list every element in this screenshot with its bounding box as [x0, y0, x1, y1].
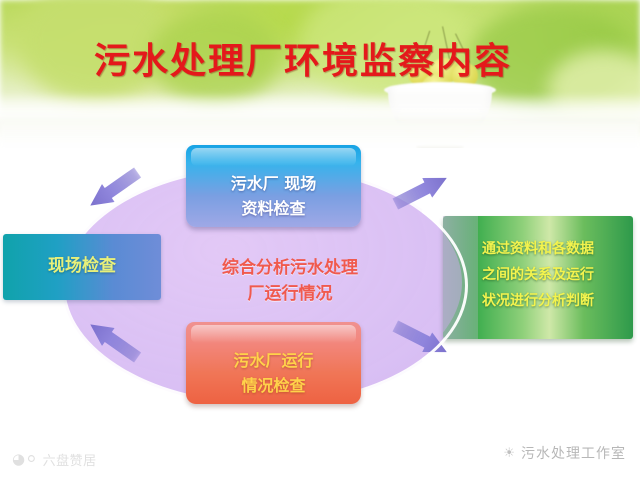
box-top-text: 污水厂 现场 资料检查 [186, 171, 361, 221]
box-site-document-check[interactable]: 污水厂 现场 资料检查 [186, 145, 361, 227]
center-line1: 综合分析污水处理 [170, 255, 410, 281]
box-on-site-inspection[interactable]: 现场检查 [3, 234, 161, 300]
watermark-left: ◕⚪ 六盘赞居 [12, 450, 97, 469]
box-left-label: 现场检查 [3, 254, 161, 278]
box-right-text: 通过资料和各数据 之间的关系及运行 状况进行分析判断 [443, 236, 633, 314]
box-right-line2: 之间的关系及运行 [443, 262, 633, 288]
box-bottom-line2: 情况检查 [186, 373, 361, 398]
presentation-slide: 污水处理厂环境监察内容 现场检查 通过资料和各数据 之间的关系及运行 状况进行分… [0, 0, 640, 478]
box-bottom-gloss [191, 325, 356, 343]
watermark-right: ☀ 污水处理工作室 [503, 443, 626, 463]
page-title: 污水处理厂环境监察内容 [94, 44, 512, 80]
diagram-container: 现场检查 通过资料和各数据 之间的关系及运行 状况进行分析判断 污水厂 现场 资… [0, 140, 640, 440]
box-analysis-judgement[interactable]: 通过资料和各数据 之间的关系及运行 状况进行分析判断 [443, 216, 633, 339]
box-right-line3: 状况进行分析判断 [443, 288, 633, 314]
box-bottom-text: 污水厂运行 情况检查 [186, 348, 361, 398]
logo-mark-icon: ◕⚪ [12, 452, 38, 467]
box-top-line2: 资料检查 [186, 196, 361, 221]
sun-icon: ☀ [503, 446, 515, 461]
box-operation-status-check[interactable]: 污水厂运行 情况检查 [186, 322, 361, 404]
box-top-line1: 污水厂 现场 [186, 171, 361, 196]
box-top-gloss [191, 148, 356, 166]
center-summary-text: 综合分析污水处理 厂运行情况 [170, 255, 410, 307]
watermark-left-label: 六盘赞居 [43, 450, 97, 469]
center-line2: 厂运行情况 [170, 281, 410, 307]
arrow-top-right-icon [390, 168, 452, 214]
box-bottom-line1: 污水厂运行 [186, 348, 361, 373]
box-right-line1: 通过资料和各数据 [443, 236, 633, 262]
watermark-right-label: 污水处理工作室 [521, 443, 626, 463]
